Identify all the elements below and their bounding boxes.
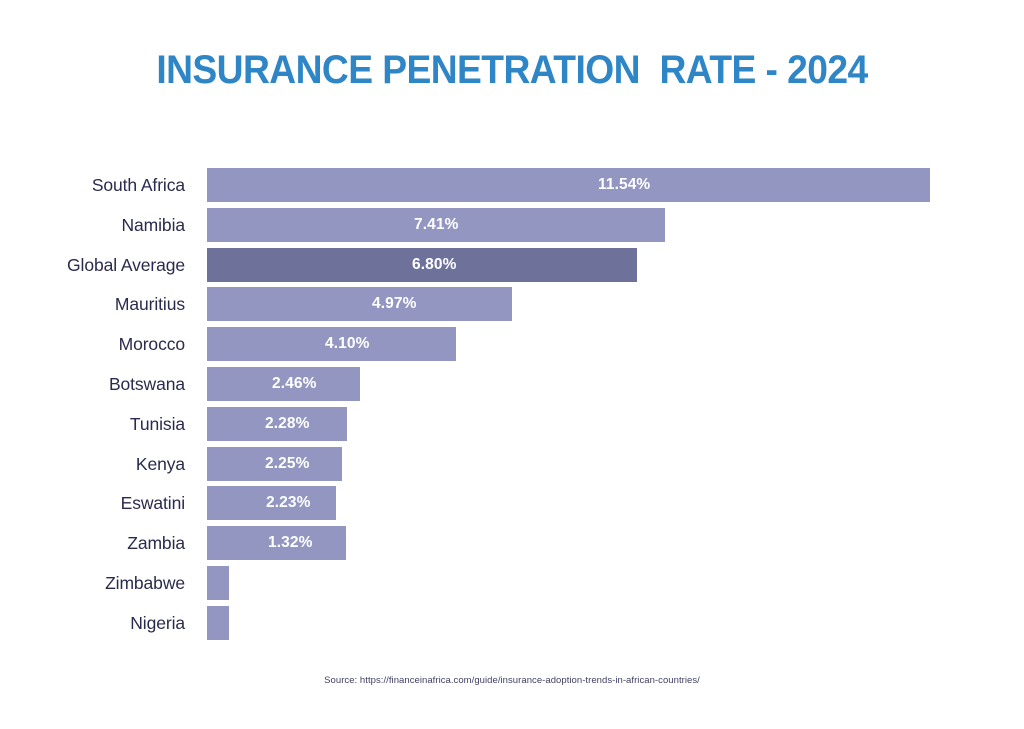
bar-value-label: 2.23% xyxy=(266,486,310,520)
bar-row: South Africa11.54% xyxy=(0,168,1024,202)
bar[interactable] xyxy=(207,168,930,202)
category-label: South Africa xyxy=(0,168,185,202)
category-label: Global Average xyxy=(0,248,185,282)
bar-value-label: 7.41% xyxy=(414,208,458,242)
page-title: INSURANCE PENETRATION RATE - 2024 xyxy=(36,48,988,93)
category-label: Nigeria xyxy=(0,606,185,640)
bar-value-label: 2.46% xyxy=(272,367,316,401)
bar-value-label: 2.25% xyxy=(265,447,309,481)
bar[interactable] xyxy=(207,606,229,640)
bar-value-label: 6.80% xyxy=(412,248,456,282)
bar-row: Eswatini2.23% xyxy=(0,486,1024,520)
category-label: Morocco xyxy=(0,327,185,361)
bar-row: Namibia7.41% xyxy=(0,208,1024,242)
category-label: Zimbabwe xyxy=(0,566,185,600)
bar-row: Mauritius4.97% xyxy=(0,287,1024,321)
category-label: Namibia xyxy=(0,208,185,242)
category-label: Mauritius xyxy=(0,287,185,321)
bar-row: Morocco4.10% xyxy=(0,327,1024,361)
bar[interactable] xyxy=(207,566,229,600)
bar-chart-plot-area: South Africa11.54%Namibia7.41%Global Ave… xyxy=(0,168,1024,648)
bar-value-label: 1.32% xyxy=(268,526,312,560)
category-label: Tunisia xyxy=(0,407,185,441)
bar-value-label: 4.10% xyxy=(325,327,369,361)
bar-value-label: 11.54% xyxy=(598,168,650,202)
category-label: Botswana xyxy=(0,367,185,401)
bar-row: Global Average6.80% xyxy=(0,248,1024,282)
category-label: Kenya xyxy=(0,447,185,481)
slide-canvas: INSURANCE PENETRATION RATE - 2024 South … xyxy=(0,0,1024,729)
category-label: Zambia xyxy=(0,526,185,560)
bar-row: Botswana2.46% xyxy=(0,367,1024,401)
source-note: Source: https://financeinafrica.com/guid… xyxy=(0,675,1024,686)
bar-row: Kenya2.25% xyxy=(0,447,1024,481)
bar-row: Tunisia2.28% xyxy=(0,407,1024,441)
bar[interactable] xyxy=(207,287,512,321)
bar-row: Zimbabwe xyxy=(0,566,1024,600)
bar-row: Zambia1.32% xyxy=(0,526,1024,560)
bar-value-label: 2.28% xyxy=(265,407,309,441)
bar-row: Nigeria xyxy=(0,606,1024,640)
category-label: Eswatini xyxy=(0,486,185,520)
bar-value-label: 4.97% xyxy=(372,287,416,321)
